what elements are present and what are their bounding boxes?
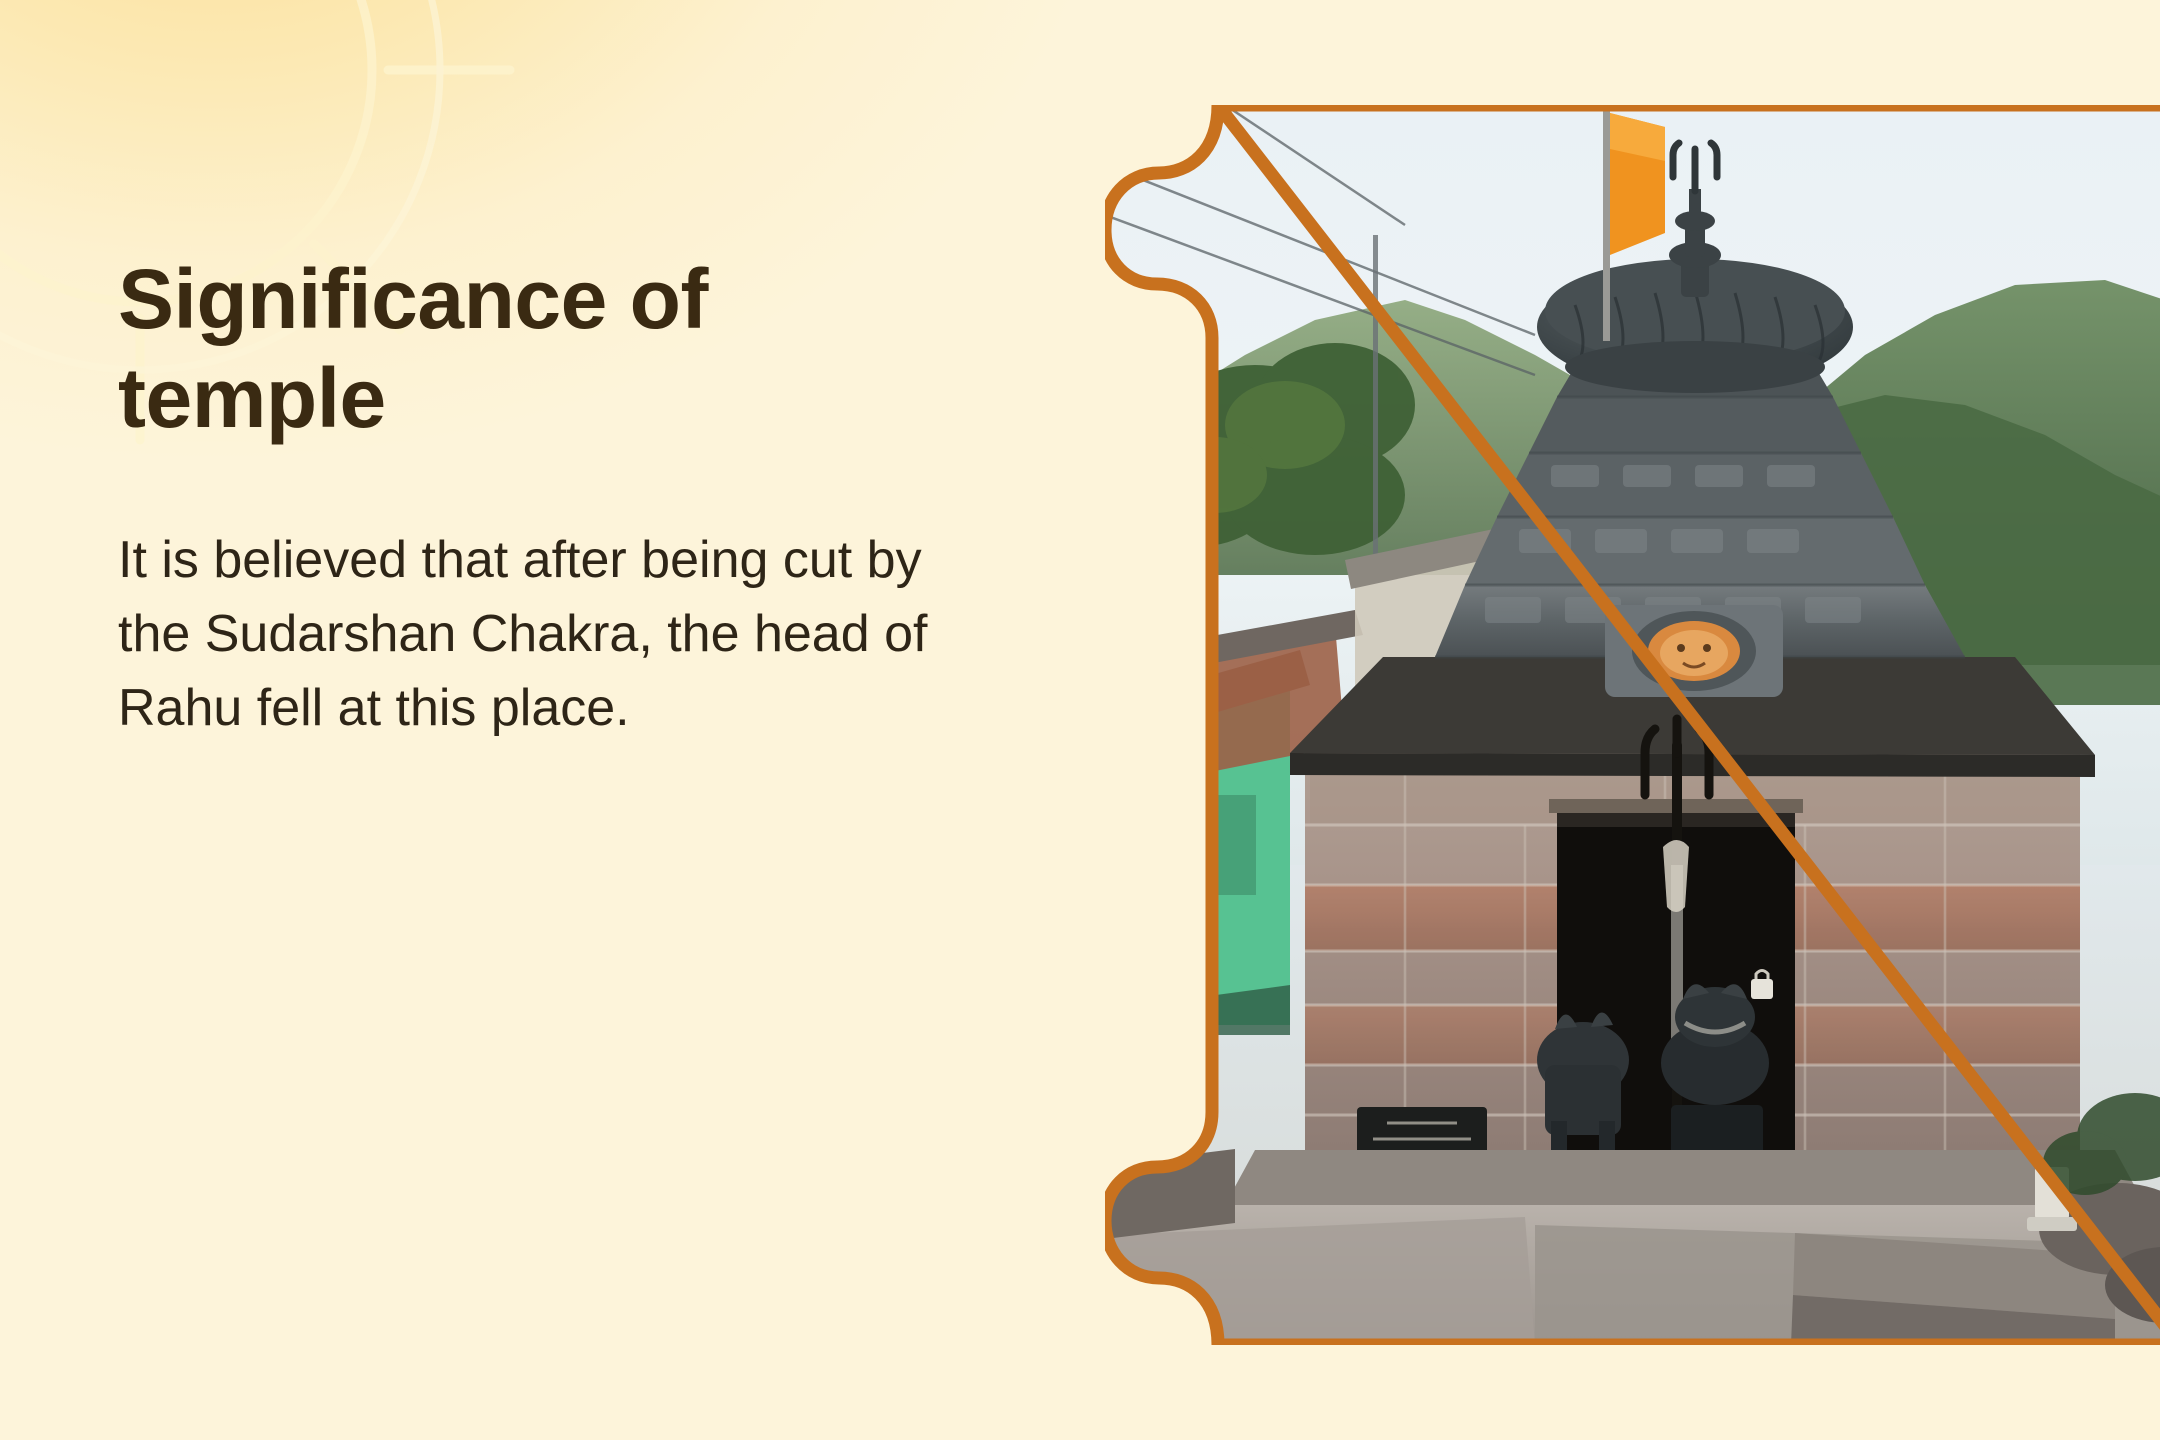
page-title: Significance of temple: [118, 250, 818, 448]
temple-photo: [1105, 105, 2160, 1345]
temple-photo-frame: [1105, 105, 2160, 1345]
slide-root: Significance of temple It is believed th…: [0, 0, 2160, 1440]
body-paragraph: It is believed that after being cut by t…: [118, 524, 998, 745]
text-column: Significance of temple It is believed th…: [118, 250, 1018, 746]
